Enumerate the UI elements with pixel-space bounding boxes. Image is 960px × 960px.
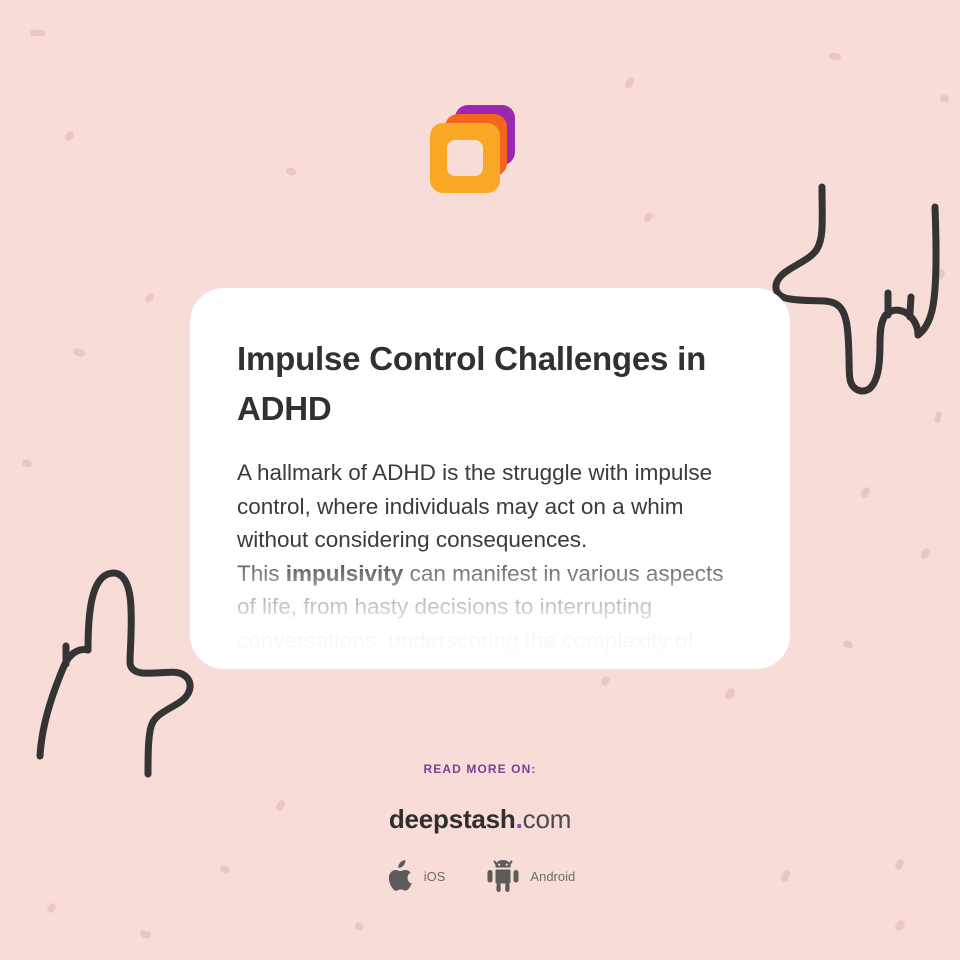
confetti-dash (64, 130, 76, 142)
android-label: Android (530, 869, 575, 884)
confetti-dash (600, 675, 611, 687)
highlight-term: impulsivity (286, 561, 404, 586)
confetti-dash (829, 52, 842, 61)
confetti-dash (934, 410, 943, 423)
confetti-dash (144, 292, 155, 304)
ios-label: iOS (424, 869, 446, 884)
confetti-dash (623, 76, 635, 90)
read-more-label: READ MORE ON: (0, 762, 960, 776)
android-store-badge[interactable]: Android (485, 859, 575, 893)
confetti-dash (860, 486, 872, 499)
deepstash-logo (429, 105, 515, 193)
brand-tld: com (523, 804, 572, 834)
paragraph-2-lead: This (237, 561, 286, 586)
footer: READ MORE ON: deepstash.com iOS (0, 762, 960, 893)
idea-paragraph-2: This impulsivity can manifest in various… (237, 557, 742, 658)
poster-canvas: Impulse Control Challenges in ADHD A hal… (0, 0, 960, 960)
confetti-dash (920, 547, 932, 560)
confetti-dash (354, 922, 365, 932)
confetti-dash (935, 268, 947, 281)
brand-name: deepstash (389, 804, 516, 834)
app-store-badges: iOS (0, 859, 960, 893)
pointing-hand-outline-icon (762, 175, 960, 410)
apple-icon (385, 859, 415, 893)
confetti-dash (46, 902, 57, 914)
confetti-dash (30, 30, 45, 36)
confetti-dash (285, 167, 297, 177)
confetti-dash (894, 919, 906, 933)
confetti-dash (724, 687, 737, 701)
brand-dot: . (516, 804, 523, 834)
logo-inner-cutout (447, 140, 483, 176)
confetti-dash (21, 459, 33, 469)
confetti-dash (643, 211, 654, 223)
idea-card-content: Impulse Control Challenges in ADHD A hal… (190, 288, 790, 657)
confetti-dash (72, 347, 86, 357)
idea-card[interactable]: Impulse Control Challenges in ADHD A hal… (190, 288, 790, 669)
confetti-dash (842, 640, 854, 650)
confetti-dash (139, 929, 152, 939)
brand-wordmark[interactable]: deepstash.com (0, 804, 960, 835)
confetti-dash (939, 94, 950, 103)
page-title: Impulse Control Challenges in ADHD (237, 334, 737, 434)
idea-paragraph-1: A hallmark of ADHD is the struggle with … (237, 456, 742, 557)
android-icon (485, 859, 521, 893)
ios-store-badge[interactable]: iOS (385, 859, 446, 893)
idea-body: A hallmark of ADHD is the struggle with … (237, 456, 742, 657)
